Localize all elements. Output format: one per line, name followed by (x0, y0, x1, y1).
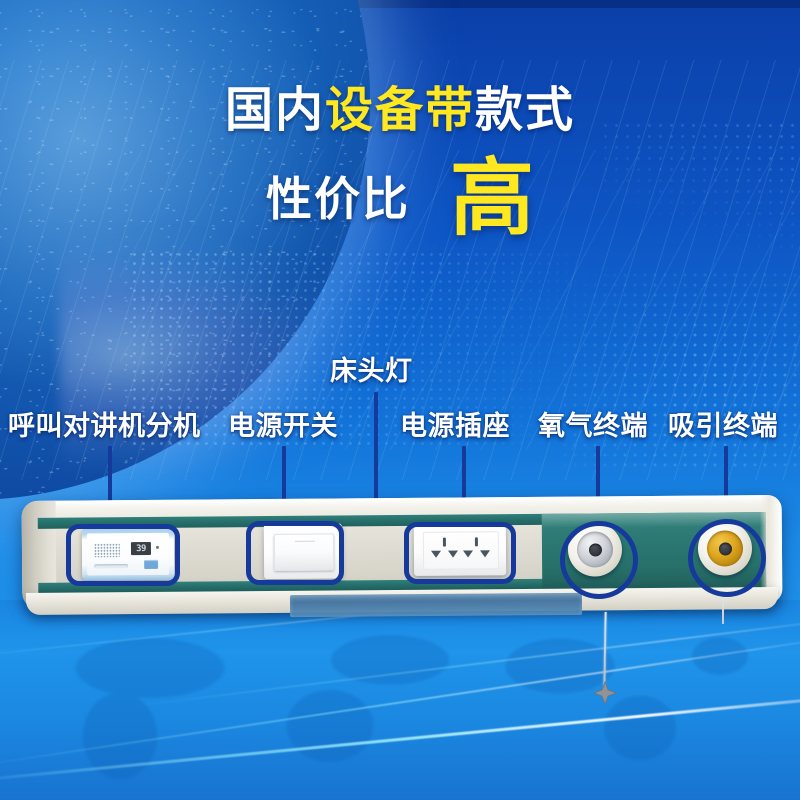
callout-label-text: 床头灯 (330, 356, 413, 387)
headline-text-highlight: 设备带 (325, 82, 475, 138)
headline-line-1: 国内设备带款式 (0, 86, 800, 134)
socket-faceplate (423, 531, 499, 570)
speaker-grille-icon (94, 543, 120, 557)
power-switch-device[interactable] (264, 523, 342, 579)
headline-subtext: 性价比 (266, 176, 410, 222)
intercom-vent-slot (94, 564, 128, 568)
unit-center-rail (290, 593, 582, 617)
callout-label-text: 电源开关 (228, 411, 338, 442)
socket-outlet-left[interactable] (430, 538, 460, 564)
callout-power-switch: 电源开关 (228, 413, 338, 440)
callout-suction-terminal: 吸引终端 (668, 413, 778, 440)
callout-nurse-call-intercom: 呼叫对讲机分机 (8, 413, 201, 440)
banner-canvas: 国内设备带款式 性价比 高 呼叫对讲机分机 电源开关 床头灯 电源插座 氧气终端… (0, 0, 800, 800)
socket-slot-right (480, 550, 490, 557)
callout-bed-lamp: 床头灯 (330, 358, 413, 385)
suction-terminal-device[interactable]: VAC (698, 521, 752, 575)
power-socket-device[interactable] (414, 523, 506, 576)
switch-rocker[interactable] (274, 534, 334, 571)
socket-outlet-right[interactable] (462, 537, 492, 563)
intercom-call-button[interactable] (144, 560, 158, 569)
bed-head-unit: 39 (22, 498, 782, 616)
headline-block: 国内设备带款式 性价比 高 (0, 86, 800, 134)
headline-bigchar: 高 (450, 160, 534, 237)
socket-pin-vertical (475, 537, 478, 546)
intercom-faceplate: 39 (87, 533, 169, 576)
socket-slot-right (448, 551, 458, 558)
intercom-display: 39 (131, 542, 151, 555)
callout-oxygen-terminal: 氧气终端 (538, 413, 648, 440)
callout-label-text: 吸引终端 (668, 411, 778, 442)
headline-text-part1: 国内 (225, 82, 325, 138)
status-led-icon (156, 546, 159, 549)
nurse-call-intercom-device[interactable]: 39 (82, 528, 174, 581)
socket-slot-left (431, 551, 441, 558)
socket-slot-left (463, 550, 473, 557)
pull-cord-short[interactable] (722, 596, 724, 624)
oxygen-terminal-device[interactable]: O2 (568, 522, 622, 576)
cord-weight-icon (592, 680, 618, 706)
socket-pin-vertical (443, 538, 446, 547)
callout-label-text: 电源插座 (400, 411, 510, 442)
headline-line-2: 性价比 高 (0, 160, 800, 237)
oxygen-terminal-marking: O2 (577, 547, 613, 552)
switch-groove (295, 541, 315, 542)
headline-text-part2: 款式 (475, 82, 575, 138)
callout-label-text: 氧气终端 (538, 411, 648, 442)
suction-terminal-marking: VAC (707, 546, 743, 551)
callout-power-socket: 电源插座 (400, 413, 510, 440)
callout-label-text: 呼叫对讲机分机 (8, 411, 201, 442)
